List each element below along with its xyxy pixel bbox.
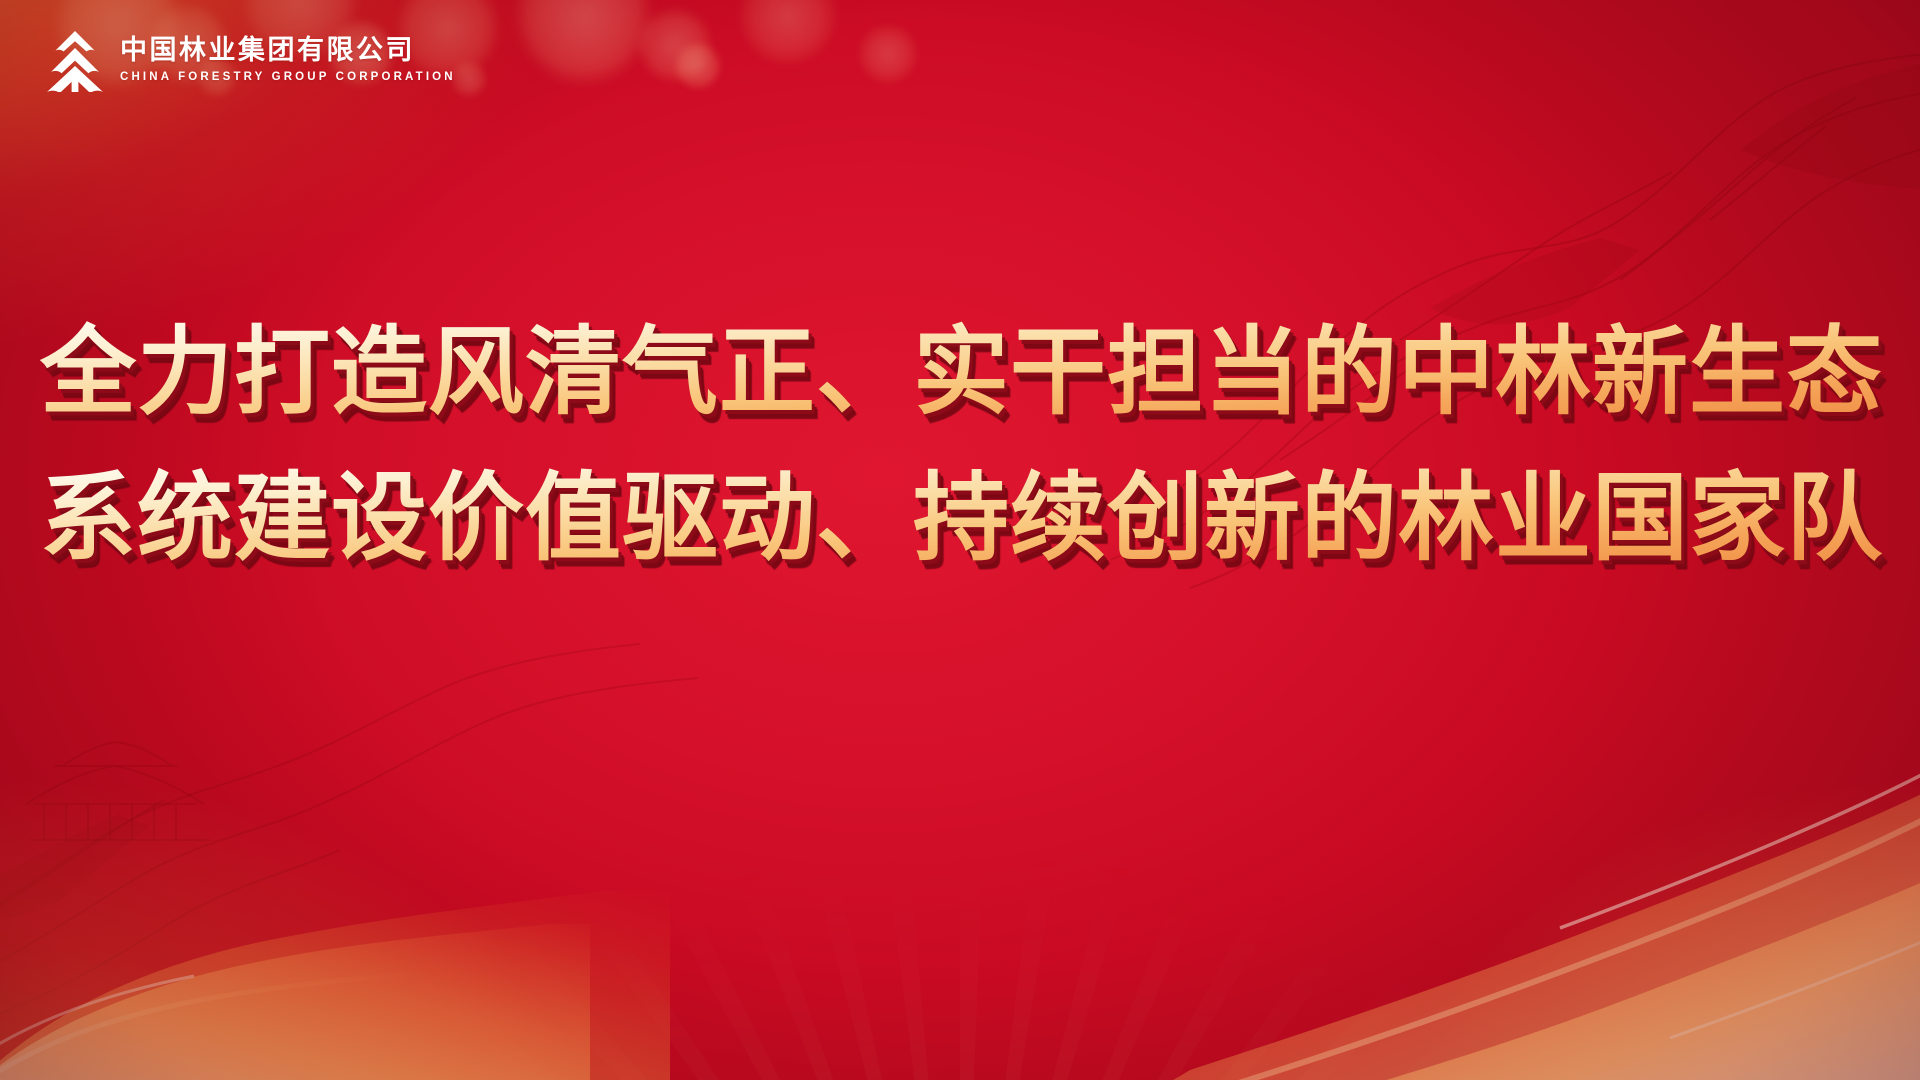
banner-poster: 中国林业集团有限公司 CHINA FORESTRY GROUP CORPORAT… bbox=[0, 0, 1920, 1080]
headline-block: 全力打造风清气正、实干担当的中林新生态 全力打造风清气正、实干担当的中林新生态 … bbox=[0, 300, 1920, 592]
company-name-cn: 中国林业集团有限公司 bbox=[120, 35, 456, 66]
headline-line-1: 全力打造风清气正、实干担当的中林新生态 全力打造风清气正、实干担当的中林新生态 bbox=[40, 300, 1880, 446]
company-name-en: CHINA FORESTRY GROUP CORPORATION bbox=[120, 71, 456, 85]
headline-line-2-text: 系统建设价值驱动、持续创新的林业国家队 bbox=[40, 465, 1883, 572]
china-forestry-group-tree-mark-icon bbox=[44, 28, 106, 92]
headline-line-1-text: 全力打造风清气正、实干担当的中林新生态 bbox=[40, 319, 1883, 426]
brand-logo[interactable]: 中国林业集团有限公司 CHINA FORESTRY GROUP CORPORAT… bbox=[44, 28, 456, 92]
ribbon-swoosh-right bbox=[1020, 740, 1920, 1080]
ribbon-swoosh-left bbox=[0, 770, 730, 1080]
headline-line-2: 系统建设价值驱动、持续创新的林业国家队 系统建设价值驱动、持续创新的林业国家队 bbox=[40, 446, 1880, 592]
brand-logo-text: 中国林业集团有限公司 CHINA FORESTRY GROUP CORPORAT… bbox=[120, 35, 456, 85]
